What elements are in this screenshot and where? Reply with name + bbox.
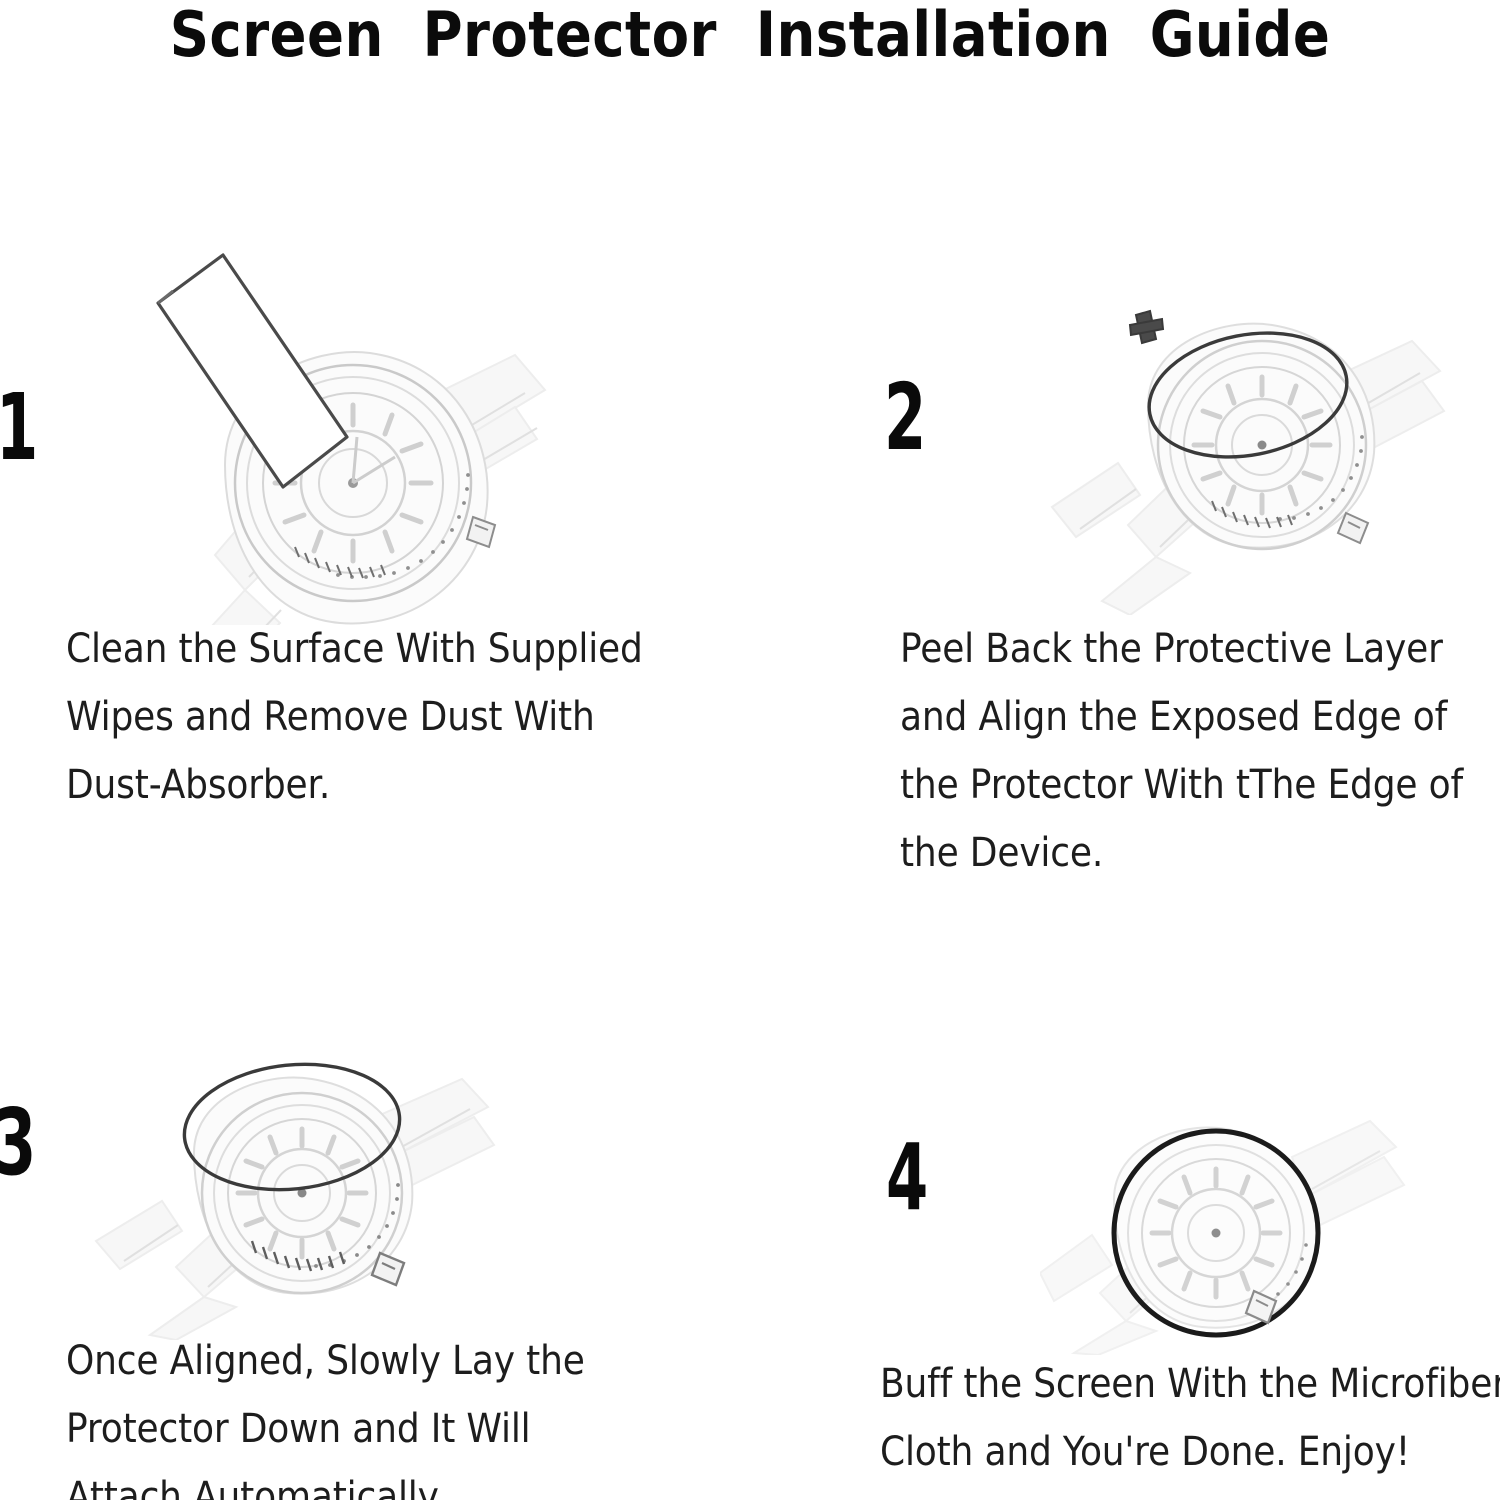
page-title: Screen Protector Installation Guide [90, 0, 1410, 72]
step-number-3: 3 [0, 1097, 36, 1189]
watch-wipe-illustration [95, 225, 565, 625]
step-number-1: 1 [0, 382, 38, 474]
step-number-4: 4 [886, 1132, 928, 1224]
watch-peel-illustration [1040, 285, 1470, 615]
step-caption-1: Clean the Surface With Supplied Wipes an… [66, 615, 750, 819]
watch-hands-pivot-2 [1258, 441, 1267, 450]
step-caption-3: Once Aligned, Slowly Lay the Protector D… [66, 1327, 750, 1500]
watch-hands-pivot-4 [1212, 1229, 1221, 1238]
step-caption-2: Peel Back the Protective Layer and Align… [900, 615, 1500, 887]
protector-peel-tab-icon [1130, 311, 1163, 343]
watch-buffed-illustration [1040, 1095, 1450, 1355]
watch-lay-down-illustration [80, 1045, 520, 1340]
installation-guide-page: Screen Protector Installation Guide [0, 0, 1500, 1500]
step-number-2: 2 [884, 372, 926, 464]
step-caption-4: Buff the Screen With the Microfiber Clot… [880, 1350, 1500, 1486]
